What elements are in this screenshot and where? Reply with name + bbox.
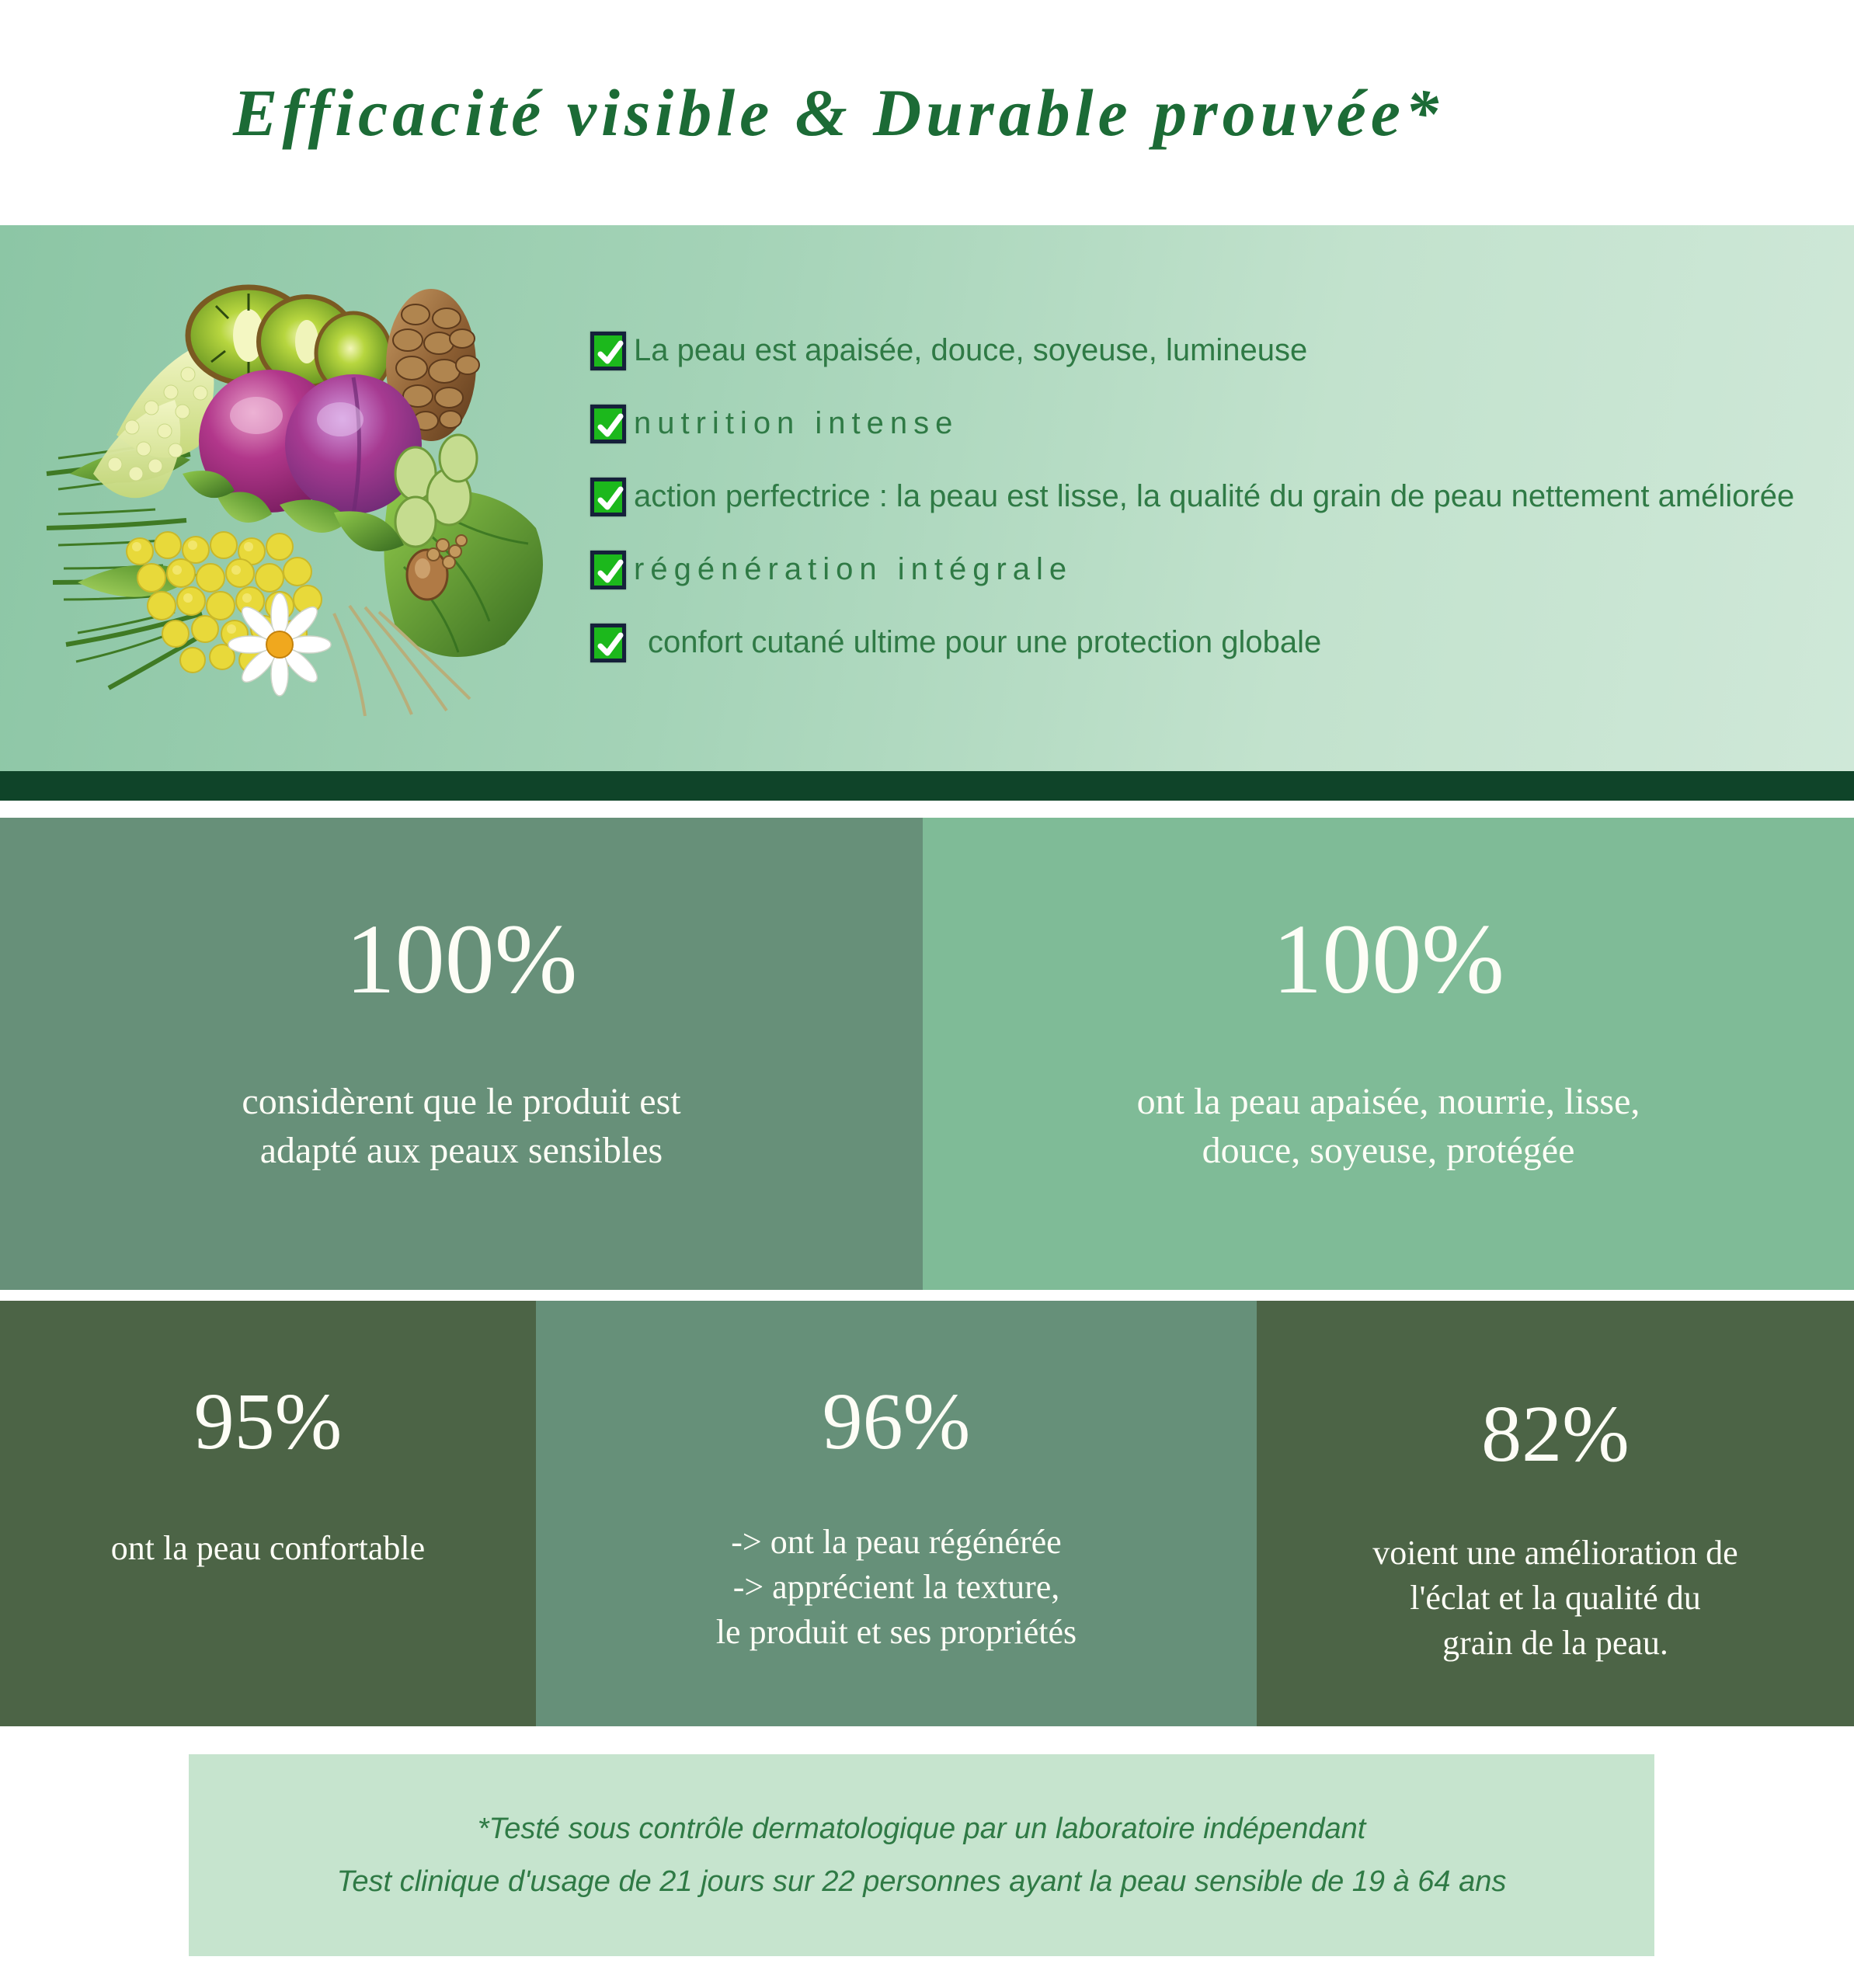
footnote-line-2: Test clinique d'usage de 21 jours sur 22… [337,1855,1507,1908]
stat-description: ont la peau apaisée, nourrie, lisse, dou… [1137,1077,1640,1176]
spacer [0,1290,1854,1301]
stat-card-82-radiance: 82% voient une amélioration de l'éclat e… [1257,1301,1854,1726]
spacer [0,801,1854,818]
benefit-item[interactable]: régénération intégrale [590,535,1831,605]
benefit-label: La peau est apaisée, douce, soyeuse, lum… [634,333,1307,368]
stat-card-96-regenerated: 96% -> ont la peau régénérée -> apprécie… [536,1301,1257,1726]
plum-fruit [199,370,422,514]
benefits-banner: La peau est apaisée, douce, soyeuse, lum… [0,225,1854,771]
stat-description: ont la peau confortable [111,1526,425,1571]
stat-description: voient une amélioration de l'éclat et la… [1372,1531,1737,1666]
page-title: Efficacité visible & Durable prouvée* [233,74,1443,151]
checkmark-icon [590,624,626,662]
footnote-line-1: *Testé sous contrôle dermatologique par … [478,1802,1366,1855]
checkmark-icon [590,551,626,589]
stat-description: considèrent que le produit est adapté au… [242,1077,680,1176]
stat-value: 100% [346,909,578,1009]
footnote-box: *Testé sous contrôle dermatologique par … [189,1754,1654,1956]
stat-value: 82% [1481,1394,1630,1475]
stats-row-primary: 100% considèrent que le produit est adap… [0,818,1854,1290]
stat-card-100-soothed: 100% ont la peau apaisée, nourrie, lisse… [923,818,1854,1290]
benefit-label: action perfectrice : la peau est lisse, … [634,479,1794,514]
benefits-list: La peau est apaisée, douce, soyeuse, lum… [590,316,1854,681]
benefit-item[interactable]: nutrition intense [590,389,1831,459]
botanical-bouquet-illustration [23,241,567,722]
daisy-flower [228,593,331,696]
stat-card-100-sensitive: 100% considèrent que le produit est adap… [0,818,923,1290]
illustration-container [0,225,590,771]
page-header: Efficacité visible & Durable prouvée* [0,0,1854,225]
stats-row-secondary: 95% ont la peau confortable 96% -> ont l… [0,1301,1854,1726]
stat-card-95-comfort: 95% ont la peau confortable [0,1301,536,1726]
checkmark-icon [590,332,626,370]
benefit-item[interactable]: confort cutané ultime pour une protectio… [590,608,1831,678]
spacer [0,1726,1854,1754]
footnote-area: *Testé sous contrôle dermatologique par … [0,1754,1854,1987]
benefit-label: régénération intégrale [634,552,1073,587]
benefit-label: confort cutané ultime pour une protectio… [634,625,1321,660]
section-divider [0,771,1854,801]
checkmark-icon [590,405,626,443]
stat-description: -> ont la peau régénérée -> apprécient l… [716,1520,1077,1655]
benefit-item[interactable]: La peau est apaisée, douce, soyeuse, lum… [590,316,1831,386]
stat-value: 95% [194,1382,343,1462]
stat-value: 96% [823,1382,971,1462]
benefit-item[interactable]: action perfectrice : la peau est lisse, … [590,462,1831,532]
checkmark-icon [590,478,626,516]
benefit-label: nutrition intense [634,406,958,441]
stat-value: 100% [1272,909,1504,1009]
